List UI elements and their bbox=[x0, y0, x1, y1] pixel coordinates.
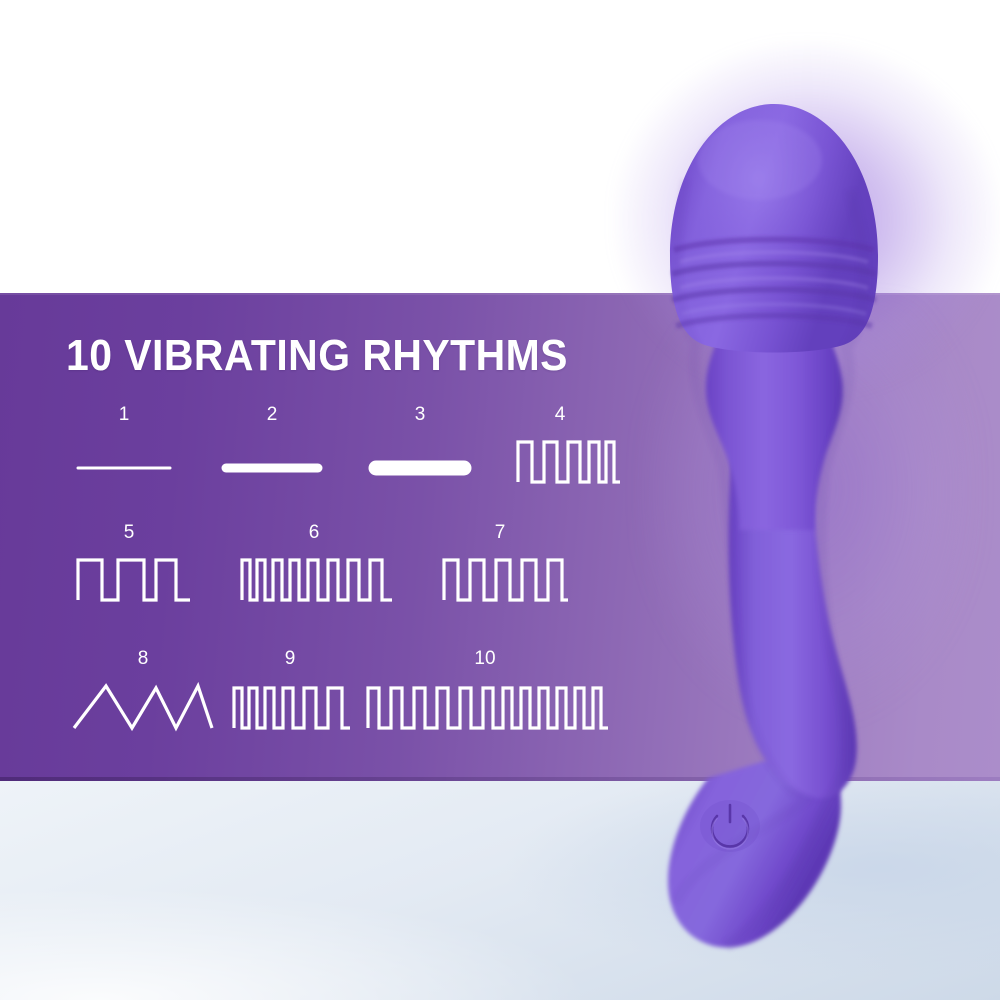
rhythm-number: 5 bbox=[64, 522, 194, 544]
rhythm-number: 6 bbox=[232, 522, 396, 544]
rhythm-pattern-10: 10 bbox=[360, 648, 610, 732]
rhythm-waveform-steady-thick bbox=[356, 430, 484, 486]
rhythm-waveform-triangle bbox=[70, 674, 216, 732]
rhythm-pattern-8: 8 bbox=[70, 648, 216, 732]
product-marketing-image: 10 VIBRATING RHYTHMS 1 2 bbox=[0, 0, 1000, 1000]
rhythm-row: 1 2 3 bbox=[60, 404, 600, 522]
rhythm-number: 7 bbox=[432, 522, 568, 544]
rhythm-number: 8 bbox=[70, 648, 216, 670]
rhythm-pattern-1: 1 bbox=[60, 404, 188, 486]
rhythm-pattern-7: 7 bbox=[432, 522, 568, 604]
rhythm-waveform-square-fastest bbox=[360, 674, 610, 732]
rhythm-number: 2 bbox=[208, 404, 336, 426]
rhythm-pattern-6: 6 bbox=[232, 522, 396, 604]
rhythm-number: 1 bbox=[60, 404, 188, 426]
rhythm-waveform-square-even bbox=[432, 548, 568, 604]
rhythm-pattern-2: 2 bbox=[208, 404, 336, 486]
rhythm-number: 10 bbox=[360, 648, 610, 670]
rhythm-row: 5 6 7 bbox=[60, 522, 600, 640]
product-image bbox=[600, 60, 1000, 960]
head-highlight bbox=[698, 120, 822, 200]
banner-title: 10 VIBRATING RHYTHMS bbox=[66, 330, 568, 382]
rhythm-pattern-9: 9 bbox=[226, 648, 354, 732]
rhythm-number: 3 bbox=[356, 404, 484, 426]
rhythm-waveform-steady-medium bbox=[208, 430, 336, 486]
rhythm-waveform-square-wide bbox=[64, 548, 194, 604]
rhythm-grid: 1 2 3 bbox=[60, 404, 600, 758]
rhythm-pattern-5: 5 bbox=[64, 522, 194, 604]
product-head bbox=[670, 104, 878, 353]
rhythm-waveform-square-dense-widening bbox=[232, 548, 396, 604]
rhythm-pattern-3: 3 bbox=[356, 404, 484, 486]
rhythm-waveform-steady-thin bbox=[60, 430, 188, 486]
rhythm-waveform-square-widening bbox=[226, 674, 354, 732]
rhythm-number: 9 bbox=[226, 648, 354, 670]
rhythm-row: 8 9 10 bbox=[60, 640, 600, 758]
